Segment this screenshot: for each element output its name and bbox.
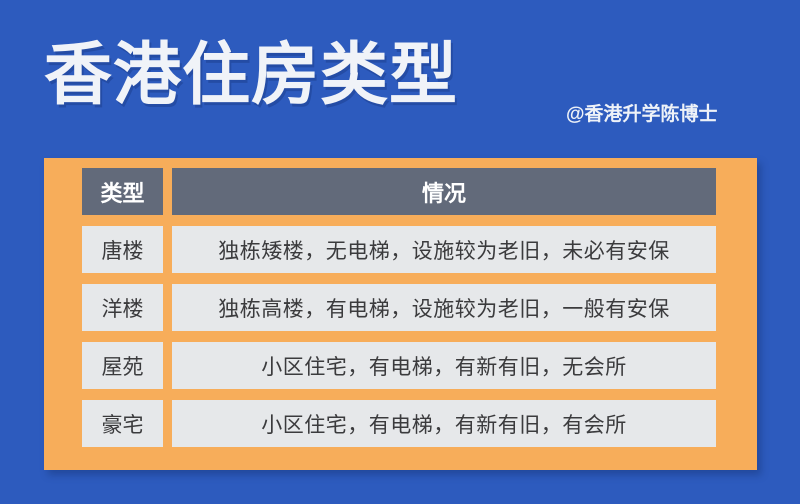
table-row: 唐楼 独栋矮楼，无电梯，设施较为老旧，未必有安保 [82, 226, 716, 273]
cell-type-wuyuan: 屋苑 [82, 342, 163, 389]
cell-type-tanglou: 唐楼 [82, 226, 163, 273]
table-row: 豪宅 小区住宅，有电梯，有新有旧，有会所 [82, 400, 716, 447]
table-row: 屋苑 小区住宅，有电梯，有新有旧，无会所 [82, 342, 716, 389]
cell-description-wuyuan: 小区住宅，有电梯，有新有旧，无会所 [172, 342, 716, 389]
table-panel: 类型 情况 唐楼 独栋矮楼，无电梯，设施较为老旧，未必有安保 洋楼 独栋高楼，有… [44, 158, 757, 470]
column-header-situation: 情况 [172, 168, 716, 215]
cell-description-haozhai: 小区住宅，有电梯，有新有旧，有会所 [172, 400, 716, 447]
table-row: 洋楼 独栋高楼，有电梯，设施较为老旧，一般有安保 [82, 284, 716, 331]
cell-type-haozhai: 豪宅 [82, 400, 163, 447]
housing-type-table: 类型 情况 唐楼 独栋矮楼，无电梯，设施较为老旧，未必有安保 洋楼 独栋高楼，有… [82, 168, 716, 447]
author-watermark: @香港升学陈博士 [566, 104, 718, 126]
column-header-type: 类型 [82, 168, 163, 215]
page-title: 香港住房类型 [44, 36, 458, 114]
cell-type-yanglou: 洋楼 [82, 284, 163, 331]
cell-description-tanglou: 独栋矮楼，无电梯，设施较为老旧，未必有安保 [172, 226, 716, 273]
poster-root: 香港住房类型 @香港升学陈博士 类型 情况 唐楼 独栋矮楼，无电梯，设施较为老旧… [0, 0, 800, 504]
poster-header: 香港住房类型 @香港升学陈博士 [0, 0, 800, 150]
table-header-row: 类型 情况 [82, 168, 716, 215]
cell-description-yanglou: 独栋高楼，有电梯，设施较为老旧，一般有安保 [172, 284, 716, 331]
